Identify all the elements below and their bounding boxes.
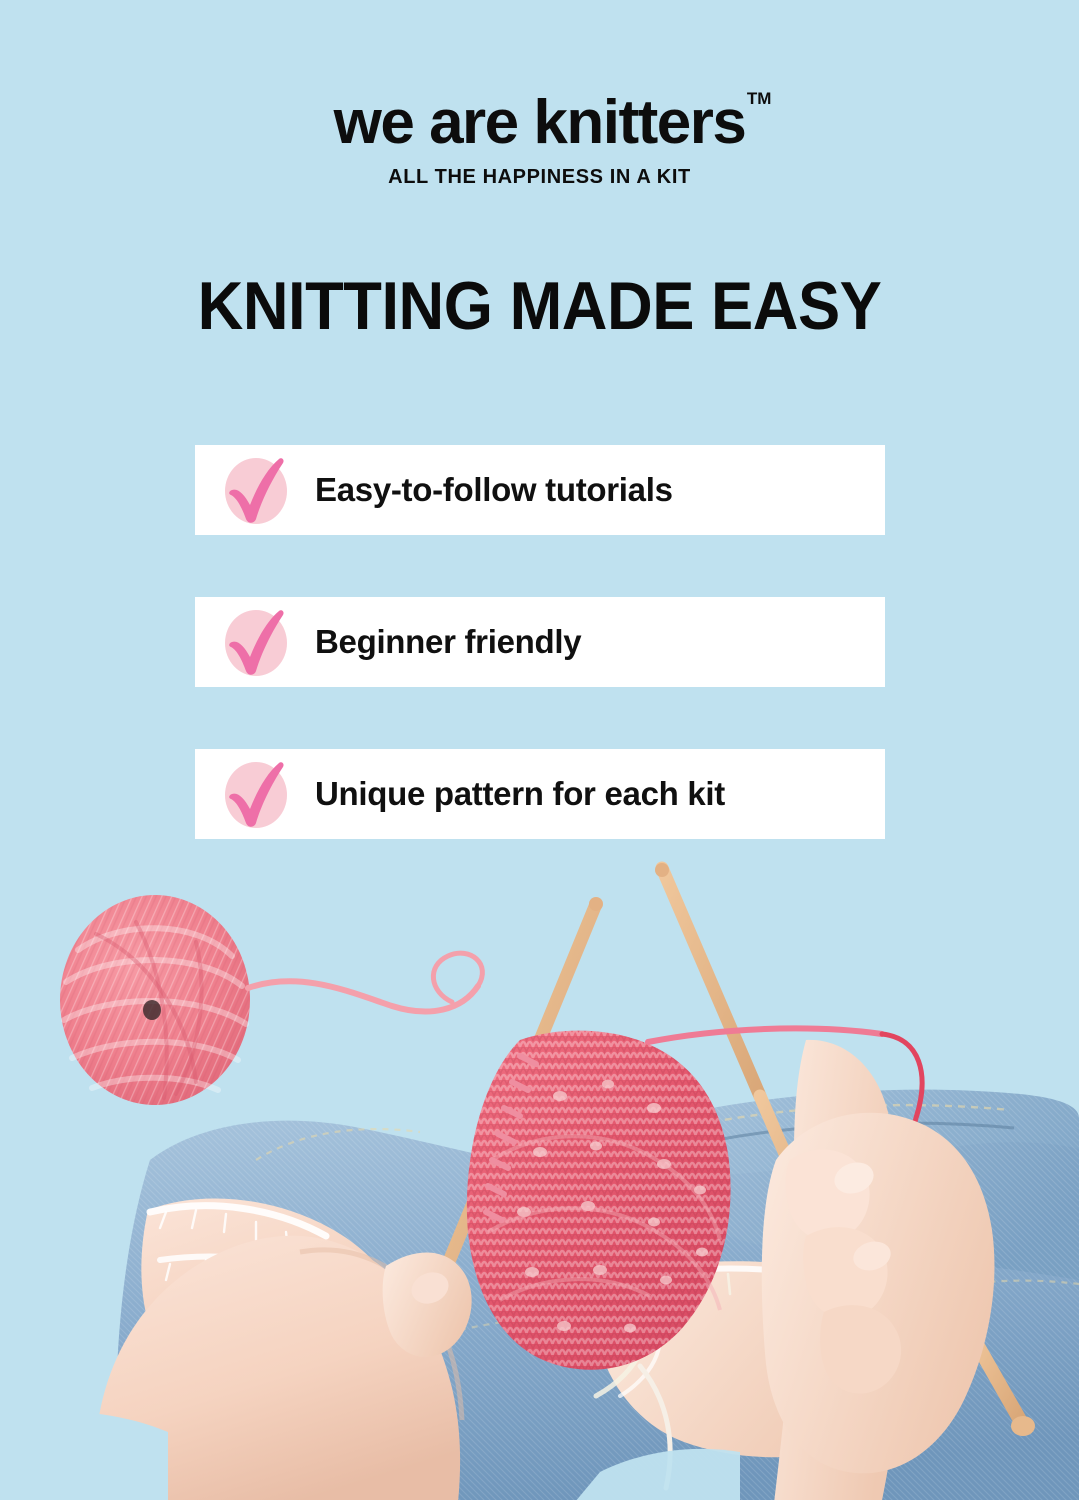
check-icon <box>219 450 291 530</box>
feature-list: Easy-to-follow tutorials Beginner friend… <box>195 445 885 839</box>
check-icon <box>219 602 291 682</box>
check-icon <box>219 754 291 834</box>
feature-label: Unique pattern for each kit <box>315 775 725 813</box>
feature-label: Beginner friendly <box>315 623 581 661</box>
feature-card-2: Beginner friendly <box>195 597 885 687</box>
brand-name-text: we are knitters <box>334 88 746 157</box>
trademark-mark: TM <box>747 90 772 107</box>
brand-block: we are knittersTM ALL THE HAPPINESS IN A… <box>0 92 1079 189</box>
feature-card-1: Easy-to-follow tutorials <box>195 445 885 535</box>
check-icon-glyph <box>219 450 291 530</box>
check-icon-glyph <box>219 754 291 834</box>
feature-card-3: Unique pattern for each kit <box>195 749 885 839</box>
page-title: KNITTING MADE EASY <box>38 272 1041 340</box>
brand-name: we are knittersTM <box>334 92 746 154</box>
check-icon-glyph <box>219 602 291 682</box>
hero-photo <box>0 860 1079 1500</box>
poster-root: we are knittersTM ALL THE HAPPINESS IN A… <box>0 0 1079 1500</box>
hero-photo-illustration <box>0 860 1079 1500</box>
feature-label: Easy-to-follow tutorials <box>315 471 673 509</box>
brand-tagline: ALL THE HAPPINESS IN A KIT <box>0 166 1079 189</box>
